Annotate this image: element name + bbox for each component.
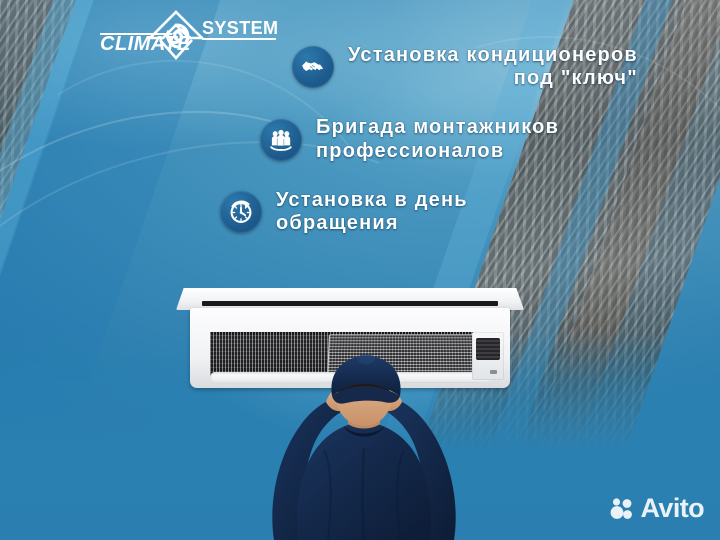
- clock-arrow-icon: [220, 191, 262, 233]
- feature-text-professional-team: Бригада монтажников профессионалов: [316, 116, 559, 162]
- feature-list: Установка кондиционеров под "ключ" Брига…: [0, 44, 700, 261]
- advertisement-banner: CLIMATE SYSTEMS Установка кондиционеров …: [0, 0, 720, 540]
- technician-figure: [228, 352, 500, 540]
- group-people-icon: [260, 119, 302, 161]
- technician-illustration: [228, 352, 500, 540]
- feature-item-turnkey-installation: Установка кондиционеров под "ключ": [0, 44, 700, 90]
- handshake-icon: [292, 46, 334, 88]
- feature-item-professional-team: Бригада монтажников профессионалов: [0, 116, 700, 162]
- logo-word-systems: SYSTEMS: [202, 18, 278, 38]
- ac-panel-slit: [202, 301, 498, 306]
- avito-wordmark: Avito: [641, 495, 705, 522]
- feature-text-same-day-installation: Установка в день обращения: [276, 189, 468, 235]
- feature-text-turnkey-installation: Установка кондиционеров под "ключ": [348, 44, 638, 90]
- avito-dots-icon: [610, 497, 634, 521]
- avito-watermark: Avito: [610, 495, 705, 522]
- feature-item-same-day-installation: Установка в день обращения: [0, 189, 700, 235]
- ac-open-front-panel: [176, 288, 524, 310]
